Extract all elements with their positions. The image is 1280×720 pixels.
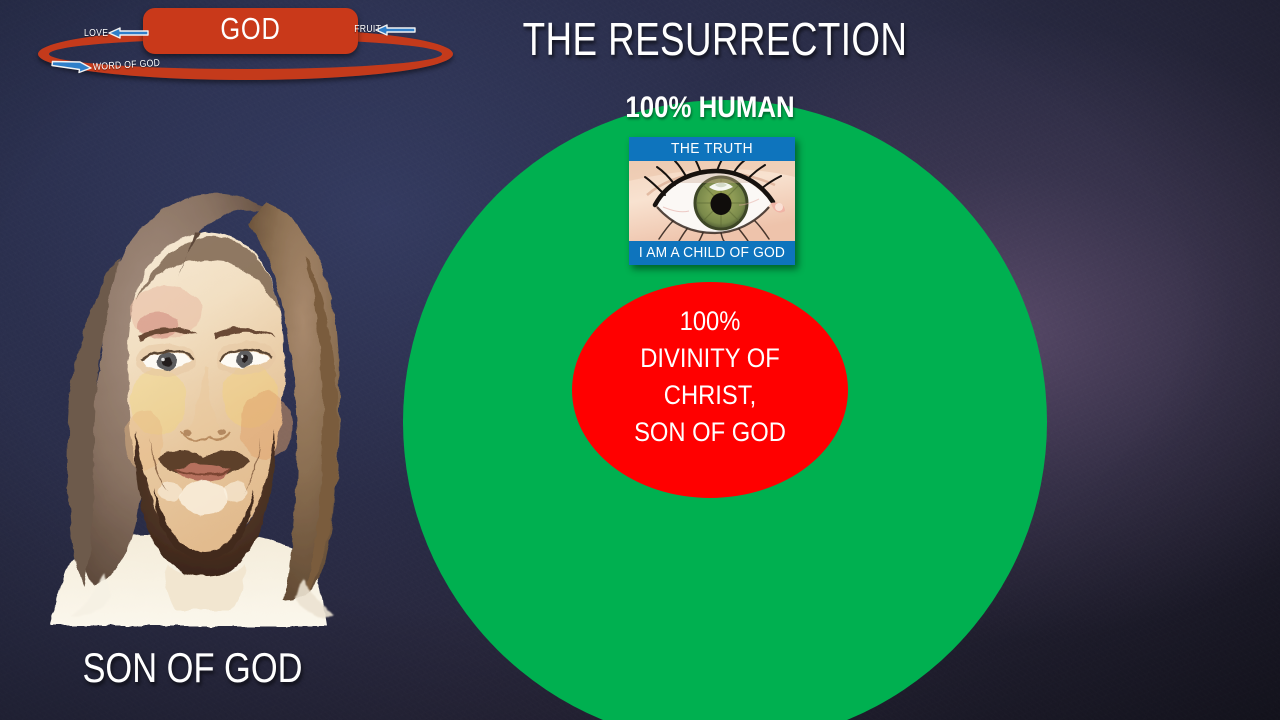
human-eye-photo — [629, 161, 795, 241]
god-banner-label: GOD — [162, 6, 338, 52]
cycle-label-love: LOVE — [84, 28, 108, 39]
truth-card: THE TRUTH — [629, 137, 795, 265]
jesus-portrait-image — [8, 140, 368, 630]
page-title: THE RESURRECTION — [507, 13, 923, 65]
slide-canvas: THE RESURRECTION GOD LOVE FRUIT WORD OF … — [0, 0, 1280, 720]
portrait-caption: SON OF GOD — [35, 645, 351, 691]
arrow-left-icon — [106, 26, 150, 40]
arrow-right-icon — [50, 59, 94, 75]
inner-circle-label: 100% DIVINITY OF CHRIST, SON OF GOD — [589, 303, 832, 451]
inner-circle-line-1: 100% — [589, 303, 832, 340]
truth-card-header: THE TRUTH — [636, 137, 789, 161]
god-cycle-diagram: GOD LOVE FRUIT WORD OF GOD — [8, 2, 458, 97]
inner-circle-line-3: CHRIST, — [589, 377, 832, 414]
cycle-label-fruit: FRUIT — [354, 24, 381, 35]
inner-circle-line-2: DIVINITY OF — [589, 340, 832, 377]
inner-circle-line-4: SON OF GOD — [589, 414, 832, 451]
truth-card-footer: I AM A CHILD OF GOD — [636, 241, 789, 265]
outer-circle-label: 100% HUMAN — [568, 90, 852, 126]
